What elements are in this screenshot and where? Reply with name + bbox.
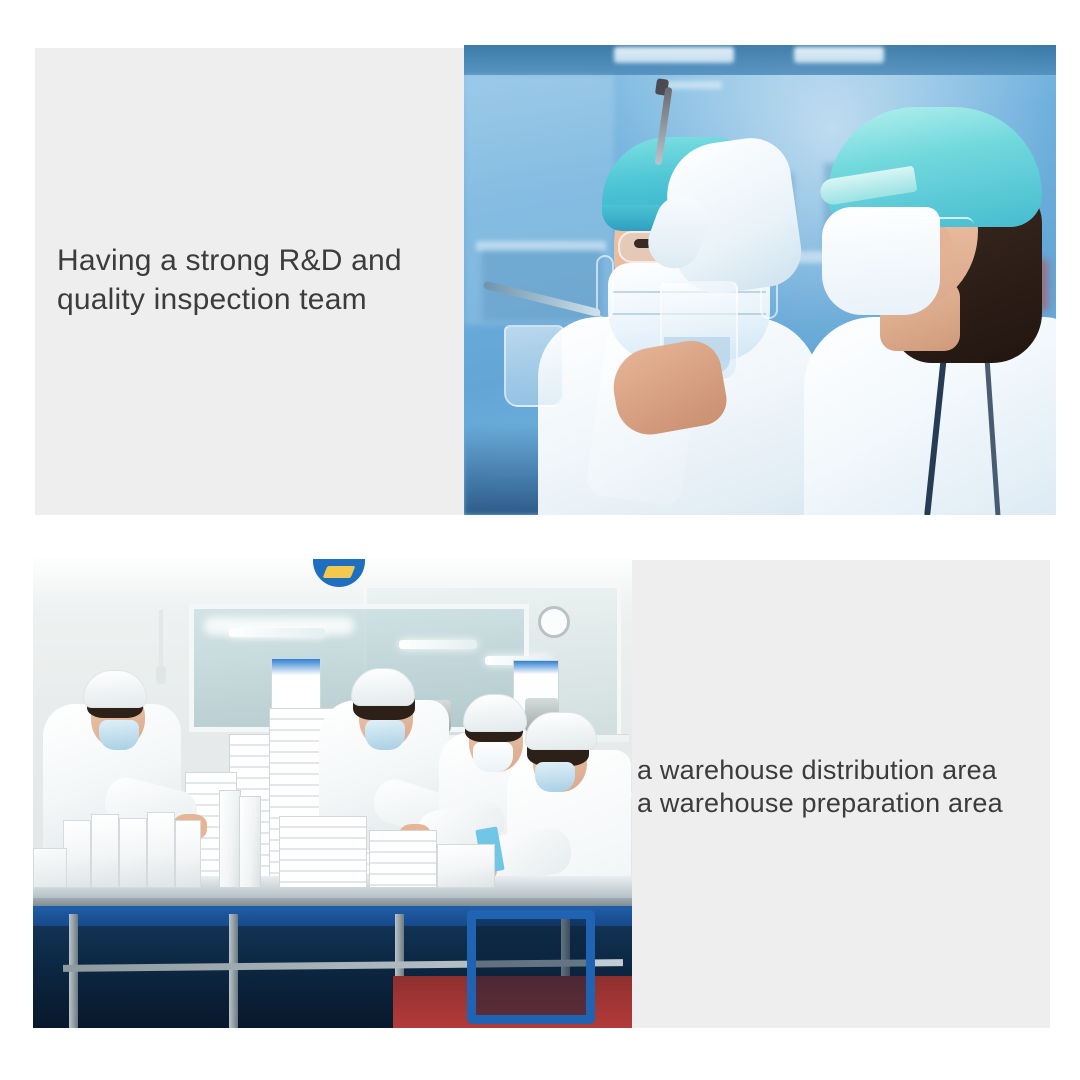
carton — [91, 814, 119, 888]
face-mask-icon — [535, 762, 575, 792]
face-mask-icon — [365, 720, 405, 750]
ceiling-light-icon — [229, 628, 325, 637]
table-leg — [229, 914, 238, 1028]
carton-stack-front — [279, 816, 367, 888]
carton-stack-front — [369, 830, 437, 888]
face-mask-icon — [99, 720, 139, 750]
section-rd-quality: Having a strong R&D and quality inspecti… — [35, 45, 1056, 515]
bottle-carton — [219, 790, 241, 888]
caption-warehouse-areas: a warehouse distribution area a warehous… — [637, 754, 1057, 820]
blue-cart — [467, 910, 595, 1024]
bottle-carton — [239, 796, 261, 888]
carton — [175, 820, 201, 888]
carton — [63, 820, 91, 888]
section-warehouse-areas: a warehouse distribution area a warehous… — [33, 558, 1050, 1028]
carton — [437, 844, 495, 888]
photo-laboratory — [464, 45, 1056, 515]
caption-line-2: a warehouse preparation area — [637, 787, 1057, 820]
poster-page: Having a strong R&D and quality inspecti… — [0, 0, 1080, 1080]
test-tube-icon — [504, 325, 564, 407]
caption-line-1: Having a strong R&D and — [57, 241, 457, 280]
ceiling-light-icon — [399, 640, 477, 649]
carton — [33, 848, 67, 888]
mask-ear-loop — [916, 217, 974, 233]
wall-clock-icon — [538, 606, 570, 638]
caption-line-1: a warehouse distribution area — [637, 754, 1057, 787]
hairnet-cap-icon — [83, 670, 147, 708]
photo-warehouse — [33, 558, 632, 1028]
carton — [119, 818, 147, 888]
lab-worker-profile — [784, 65, 1056, 515]
caption-line-2: quality inspection team — [57, 280, 457, 319]
hairnet-cap-icon — [351, 668, 415, 706]
caption-rd-quality: Having a strong R&D and quality inspecti… — [57, 241, 457, 319]
carton — [147, 812, 175, 888]
hairnet-cap-icon — [525, 712, 597, 750]
ceiling-light-icon — [794, 47, 884, 63]
ceiling-light-icon — [614, 47, 734, 63]
